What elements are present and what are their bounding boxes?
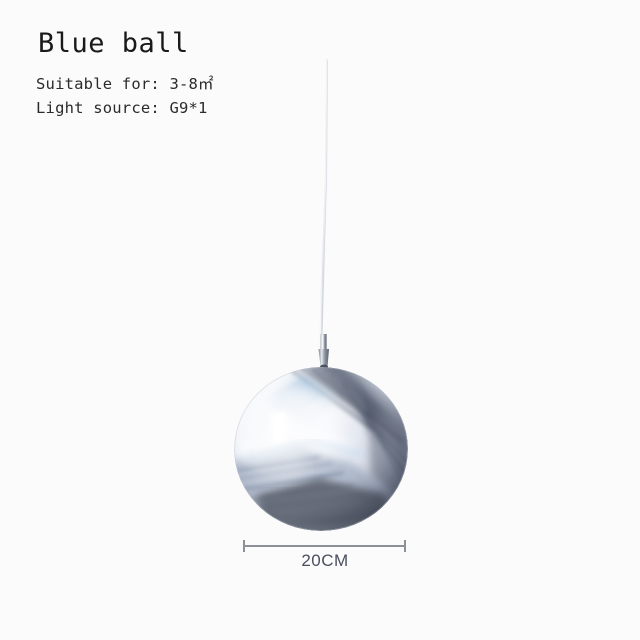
dimension-line <box>243 545 406 547</box>
dimension-label: 20CM <box>243 551 407 571</box>
spec-suitable-for: Suitable for: 3-8㎡ <box>36 73 214 95</box>
specular-highlight <box>270 411 288 445</box>
product-image-canvas: Blue ball Suitable for: 3-8㎡ Light sourc… <box>0 0 640 640</box>
marble-glass-globe <box>234 367 408 531</box>
spec-light-source: Light source: G9*1 <box>36 97 208 119</box>
page-title: Blue ball <box>38 28 189 60</box>
pendant-cord <box>300 58 360 348</box>
